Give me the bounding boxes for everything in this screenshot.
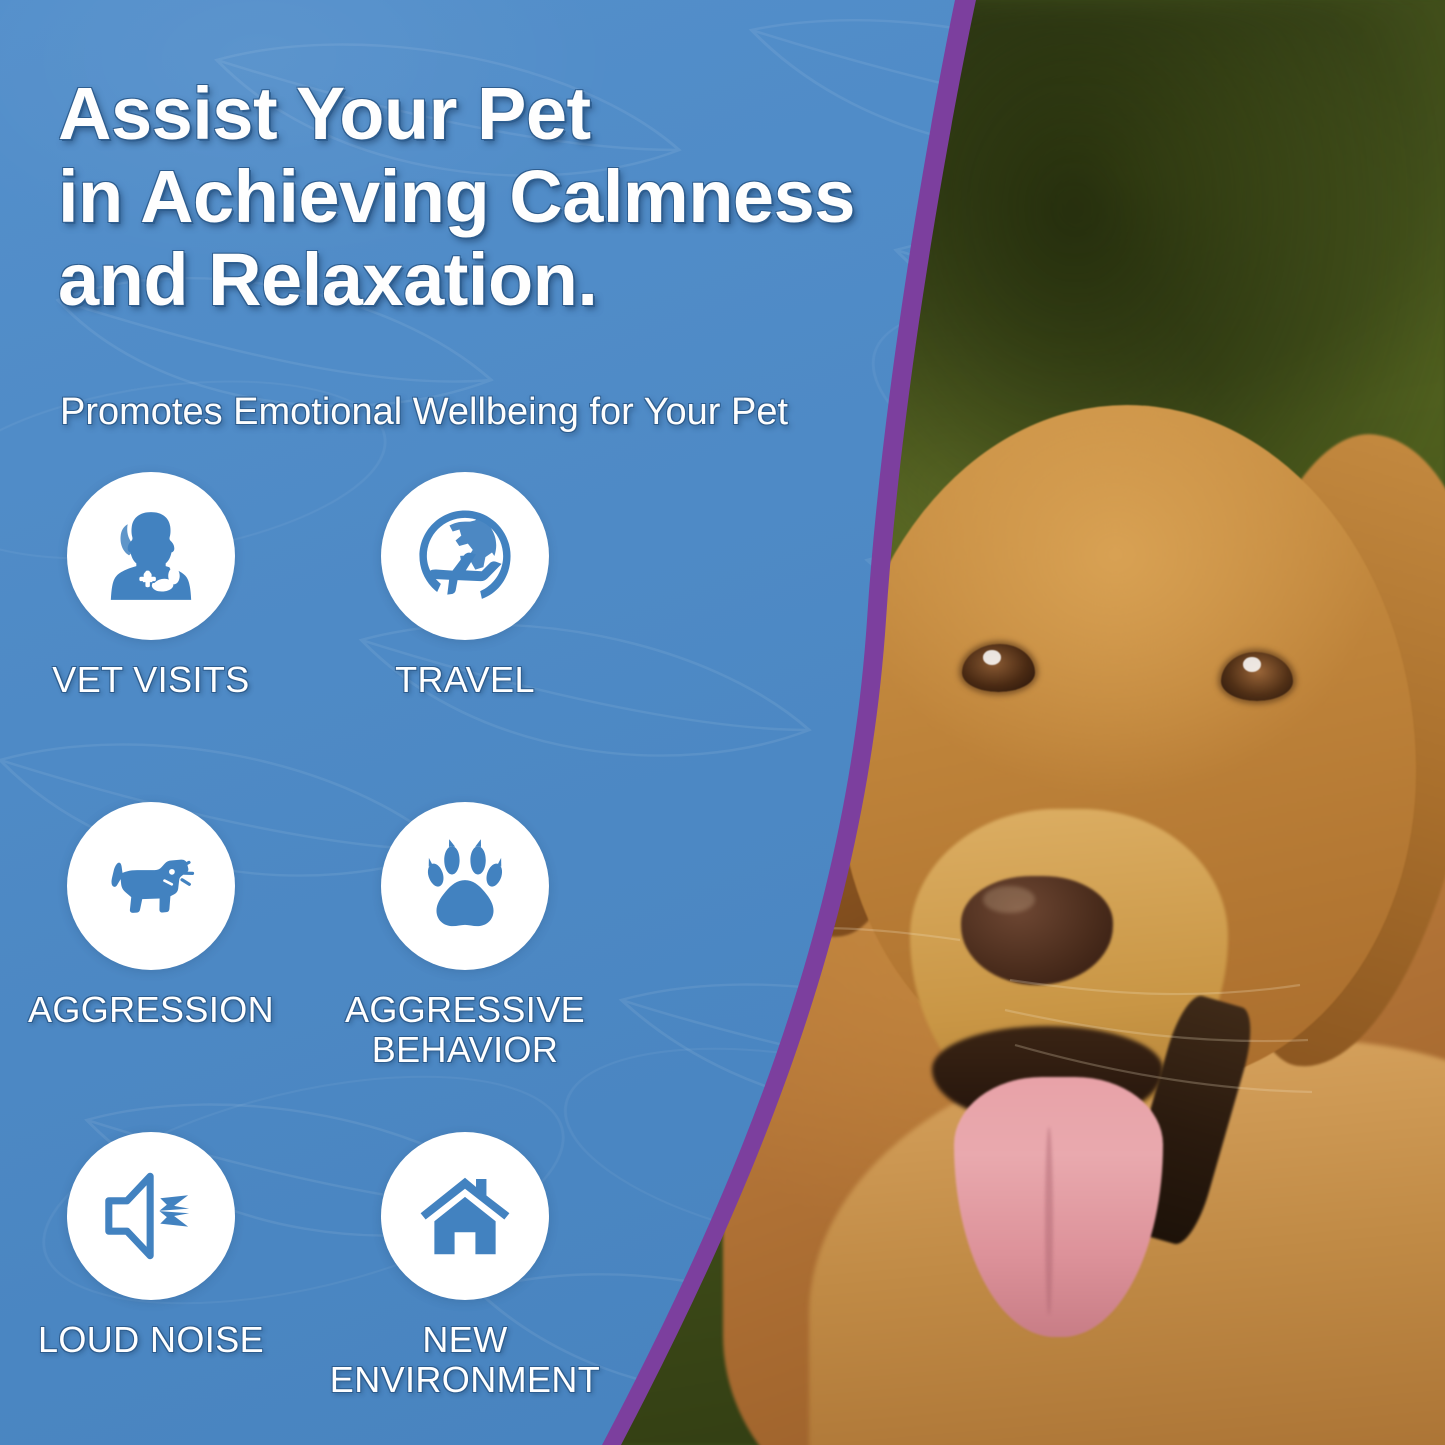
benefits-grid: VET VISITS TRAVEL [0, 472, 620, 1445]
benefit-item-vet-visits: VET VISITS [0, 472, 306, 700]
benefit-label-line-2: ENVIRONMENT [310, 1360, 620, 1400]
benefit-item-travel: TRAVEL [310, 472, 620, 700]
barking-dog-icon [97, 832, 205, 940]
benefit-label: AGGRESSIVE BEHAVIOR [310, 990, 620, 1071]
headline-line-2: in Achieving Calmness [58, 156, 938, 239]
benefit-label: VET VISITS [0, 660, 306, 700]
benefits-row-2: AGGRESSION [0, 802, 620, 1132]
benefit-label-line-2: BEHAVIOR [310, 1030, 620, 1070]
benefit-item-aggressive-behavior: AGGRESSIVE BEHAVIOR [310, 802, 620, 1071]
benefit-label: AGGRESSION [0, 990, 306, 1030]
benefit-item-aggression: AGGRESSION [0, 802, 306, 1030]
headline: Assist Your Pet in Achieving Calmness an… [58, 73, 938, 322]
benefit-label: LOUD NOISE [0, 1320, 306, 1360]
benefit-label-line-1: AGGRESSIVE [345, 989, 585, 1030]
headline-line-3: and Relaxation. [58, 239, 938, 322]
benefits-row-3: LOUD NOISE NEW ENVIRONMENT [0, 1132, 620, 1445]
benefit-label-line-1: NEW [422, 1319, 507, 1360]
benefit-icon-bubble [381, 802, 549, 970]
headline-line-1: Assist Your Pet [58, 73, 938, 156]
benefit-icon-bubble [67, 472, 235, 640]
benefit-icon-bubble [381, 1132, 549, 1300]
benefits-row-1: VET VISITS TRAVEL [0, 472, 620, 802]
speaker-sound-icon [97, 1162, 205, 1270]
house-icon [416, 1167, 514, 1265]
subheadline: Promotes Emotional Wellbeing for Your Pe… [60, 391, 788, 434]
benefit-label: NEW ENVIRONMENT [310, 1320, 620, 1401]
benefit-icon-bubble [67, 802, 235, 970]
veterinarian-icon [97, 502, 205, 610]
benefit-label: TRAVEL [310, 660, 620, 700]
benefit-item-new-environment: NEW ENVIRONMENT [310, 1132, 620, 1401]
benefit-icon-bubble [67, 1132, 235, 1300]
benefit-item-loud-noise: LOUD NOISE [0, 1132, 306, 1360]
paw-print-icon [411, 832, 519, 940]
benefit-icon-bubble [381, 472, 549, 640]
promo-banner: Assist Your Pet in Achieving Calmness an… [0, 0, 1445, 1445]
globe-airplane-icon [411, 502, 519, 610]
